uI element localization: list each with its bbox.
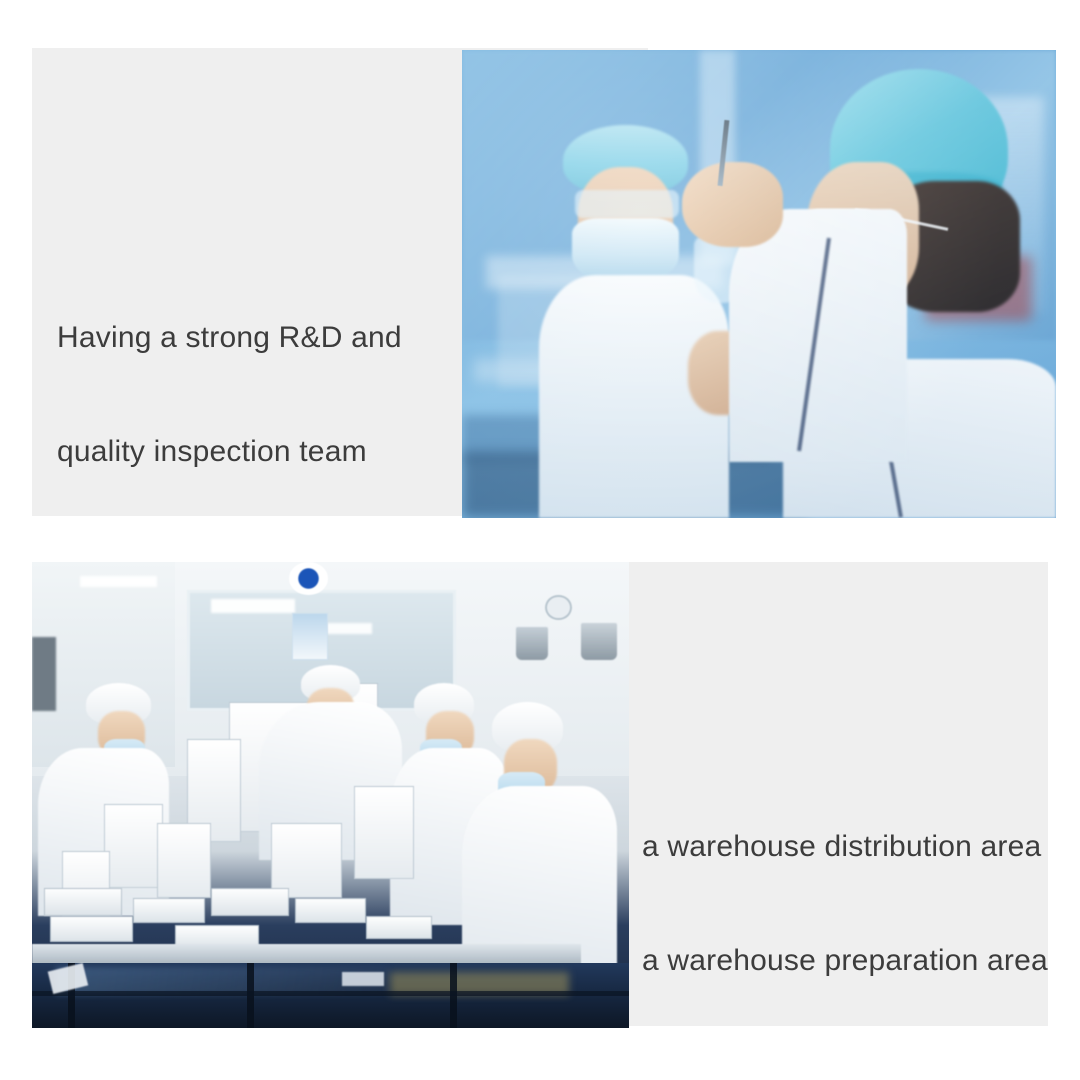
rnd-caption: Having a strong R&D and quality inspecti… — [57, 243, 402, 547]
page-canvas: Having a strong R&D and quality inspecti… — [0, 0, 1080, 1080]
technician-left-goggles — [575, 190, 679, 218]
carton-stack — [104, 804, 164, 888]
bench-cross-rail — [32, 991, 629, 996]
carton-stack — [157, 823, 211, 898]
rnd-caption-line-2: quality inspection team — [57, 433, 402, 471]
carton-box — [50, 916, 134, 942]
loose-paper-sheet — [342, 972, 384, 986]
lab-photo — [462, 50, 1056, 518]
steel-container-1 — [516, 627, 549, 660]
cleanroom-wall-panel — [32, 637, 56, 712]
wall-notice-board — [292, 613, 328, 660]
warehouse-caption: a warehouse distribution area a warehous… — [642, 752, 1048, 1056]
warehouse-caption-line-1: a warehouse distribution area — [642, 828, 1048, 866]
window-light-fixture-1 — [211, 599, 295, 613]
warehouse-photo — [32, 562, 629, 1028]
technician-right-hand — [682, 162, 783, 246]
carton-box — [44, 888, 122, 916]
technician-right-sleeve — [729, 209, 907, 462]
carton-stack — [354, 786, 414, 879]
carton-box — [211, 888, 289, 916]
carton-box — [366, 916, 432, 939]
warehouse-caption-line-2: a warehouse preparation area — [642, 942, 1048, 980]
carton-box — [295, 898, 367, 924]
steel-container-2 — [581, 623, 617, 660]
carton-stack — [271, 823, 343, 898]
ceiling-light-fixture — [80, 576, 158, 587]
carton-box — [133, 898, 205, 924]
rnd-caption-line-1: Having a strong R&D and — [57, 319, 402, 357]
blue-circular-sign — [289, 562, 328, 595]
